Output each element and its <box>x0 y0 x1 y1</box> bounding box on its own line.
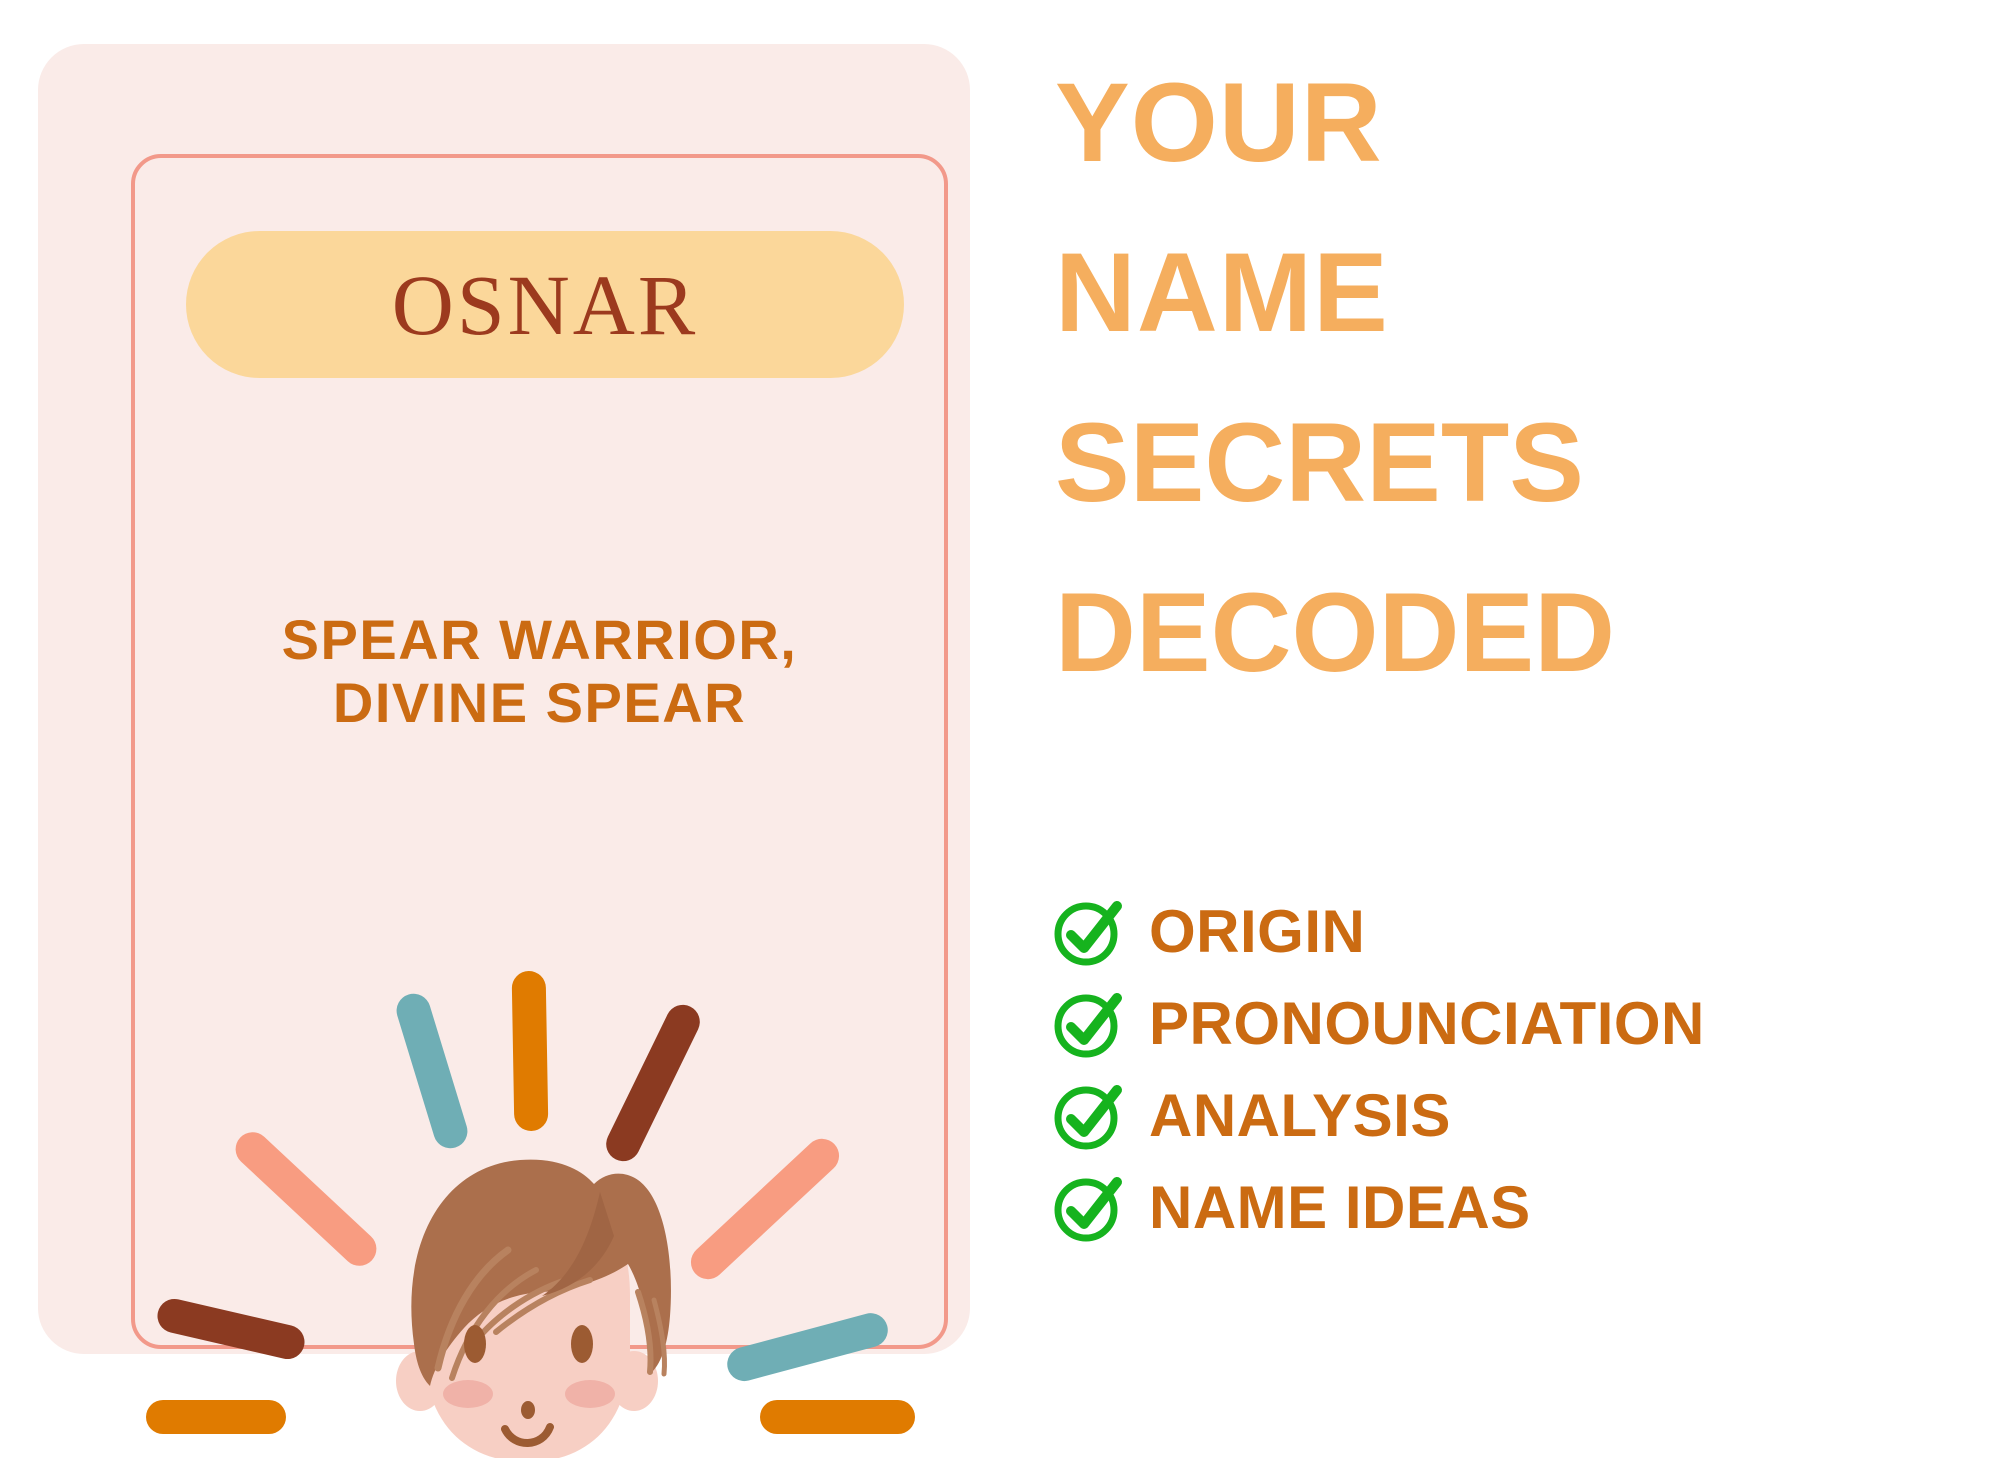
check-circle-icon <box>1055 991 1121 1057</box>
headline-line-2: NAME <box>1055 232 1975 354</box>
checklist-label: PRONOUNCIATION <box>1149 994 1705 1054</box>
checklist-label: ANALYSIS <box>1149 1086 1451 1146</box>
name-meaning-line-1: SPEAR WARRIOR, <box>131 609 948 672</box>
feature-checklist: ORIGIN PRONOUNCIATION ANALYSIS <box>1055 886 1975 1254</box>
ray-brown-right <box>600 999 705 1167</box>
child-face-sunburst-illustration <box>138 944 938 1458</box>
checklist-item-analysis: ANALYSIS <box>1055 1070 1975 1162</box>
ray-orange-left-horizontal <box>146 1400 286 1434</box>
checklist-label: ORIGIN <box>1149 902 1365 962</box>
checklist-item-name-ideas: NAME IDEAS <box>1055 1162 1975 1254</box>
ray-orange-right-horizontal <box>760 1400 915 1434</box>
checklist-item-origin: ORIGIN <box>1055 886 1975 978</box>
right-panel: YOUR NAME SECRETS DECODED ORIGIN PRONOUN… <box>1055 0 1975 1414</box>
name-pill: OSNAR <box>186 231 904 378</box>
name-text: OSNAR <box>392 262 699 348</box>
check-circle-icon <box>1055 1083 1121 1149</box>
headline-line-1: YOUR <box>1055 62 1975 184</box>
check-circle-icon <box>1055 899 1121 965</box>
checklist-item-pronounciation: PRONOUNCIATION <box>1055 978 1975 1070</box>
ray-brown-left <box>154 1296 308 1363</box>
nose <box>521 1401 535 1419</box>
ray-salmon-right <box>684 1132 846 1286</box>
name-meaning-line-2: DIVINE SPEAR <box>131 672 948 735</box>
ray-salmon-left <box>229 1125 384 1273</box>
headline-line-3: SECRETS <box>1055 402 1975 524</box>
ray-orange-center <box>512 971 549 1132</box>
name-meaning: SPEAR WARRIOR, DIVINE SPEAR <box>131 609 948 734</box>
headline-line-4: DECODED <box>1055 572 1975 694</box>
headline: YOUR NAME SECRETS DECODED <box>1055 62 1975 694</box>
ray-teal-left <box>392 990 471 1153</box>
ray-teal-right <box>723 1309 891 1385</box>
name-card: OSNAR SPEAR WARRIOR, DIVINE SPEAR <box>38 44 970 1354</box>
checklist-label: NAME IDEAS <box>1149 1178 1531 1238</box>
check-circle-icon <box>1055 1175 1121 1241</box>
